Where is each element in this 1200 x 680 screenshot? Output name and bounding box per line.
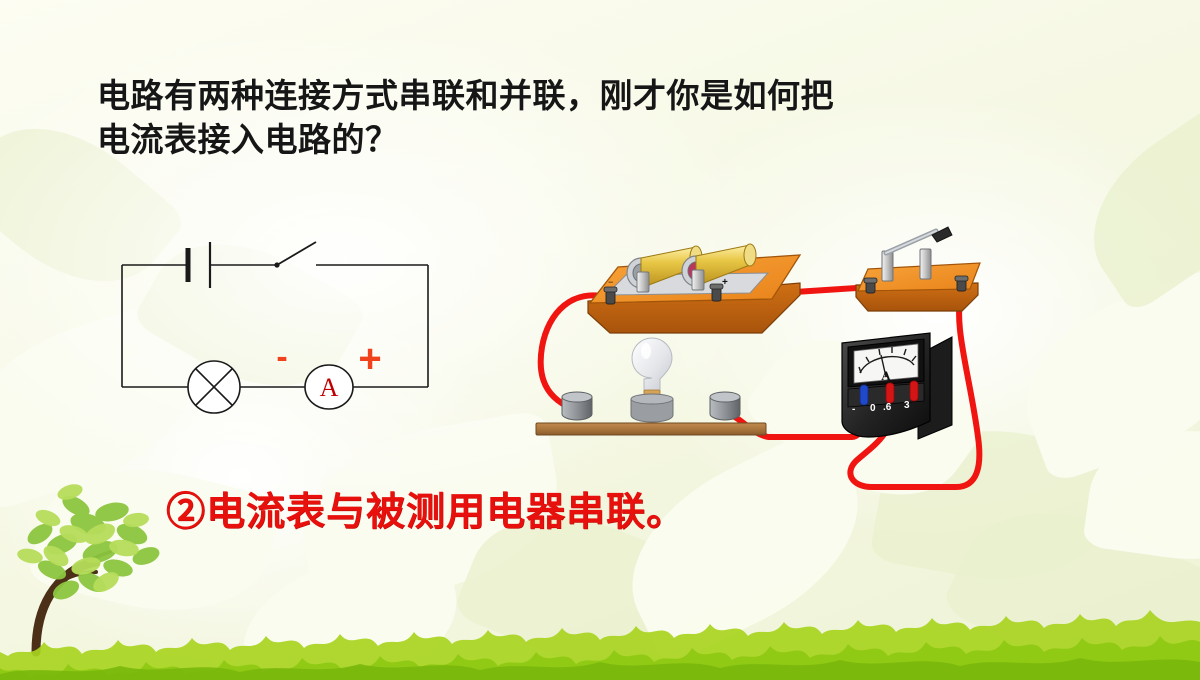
slide-canvas: 电路有两种连接方式串联和并联，刚才你是如何把 电流表接入电路的？ (0, 0, 1200, 680)
ammeter-label-3: 3 (904, 400, 910, 411)
ammeter-label-0: 0 (870, 403, 876, 414)
lamp-socket (631, 394, 673, 422)
ammeter-label-minus: - (852, 404, 855, 415)
page-title: 电路有两种连接方式串联和并联，刚才你是如何把 电流表接入电路的？ (97, 76, 1087, 164)
ammeter-label-06: .6 (883, 402, 892, 413)
lamp-symbol (188, 361, 240, 413)
battery-symbol (188, 242, 210, 288)
lamp-on-wooden-strip (536, 338, 766, 435)
switch-symbol (274, 242, 316, 268)
ammeter-terminal-06 (886, 383, 894, 403)
switch-left-terminal (864, 278, 877, 293)
caption-text: ②电流表与被测用电器串联。 (166, 481, 686, 537)
apparatus-illustration: − + (500, 225, 1200, 515)
knife-switch[interactable] (856, 227, 980, 311)
ammeter-face-symbol: A (881, 368, 891, 383)
series-circuit-schematic: A - + (120, 240, 430, 415)
wooden-plank (536, 423, 766, 435)
plus-sign-label: + (358, 337, 381, 381)
two-cell-battery-holder: − + (588, 244, 800, 333)
battery-plus-label: + (722, 277, 728, 288)
analog-ammeter: A - 0 .6 3 (842, 333, 952, 439)
switch-right-terminal (955, 276, 968, 291)
battery-minus-label: − (608, 277, 613, 287)
incandescent-bulb (632, 338, 672, 399)
ammeter-symbol-letter: A (320, 373, 339, 402)
grass-border (0, 570, 1200, 680)
binding-post-left (562, 392, 592, 420)
minus-sign-label: - (276, 338, 287, 376)
ammeter-terminal-minus (860, 385, 868, 405)
ammeter-terminal-3 (910, 381, 918, 401)
schematic-wires (122, 265, 428, 387)
ammeter-symbol: A (305, 365, 353, 409)
binding-post-right (710, 392, 740, 420)
